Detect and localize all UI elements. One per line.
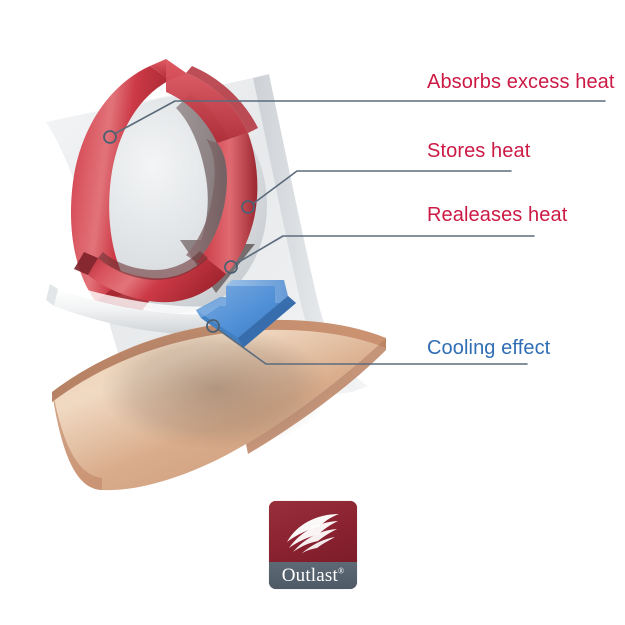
callout-label-absorbs-excess-heat: Absorbs excess heat — [427, 71, 615, 94]
outlast-logo: Outlast® — [269, 501, 357, 589]
logo-wordmark: Outlast® — [269, 562, 357, 589]
diagram-canvas: Absorbs excess heat Stores heat Realease… — [0, 0, 625, 625]
logo-background — [269, 501, 357, 562]
callout-label-cooling-effect: Cooling effect — [427, 337, 550, 360]
logo-brand-text: Outlast — [282, 565, 338, 586]
callout-label-releases-heat: Realeases heat — [427, 204, 567, 227]
callout-label-stores-heat: Stores heat — [427, 140, 530, 163]
logo-trademark-symbol: ® — [338, 567, 344, 576]
swoosh-wave-mark — [285, 512, 342, 554]
skin-surface — [52, 320, 386, 490]
